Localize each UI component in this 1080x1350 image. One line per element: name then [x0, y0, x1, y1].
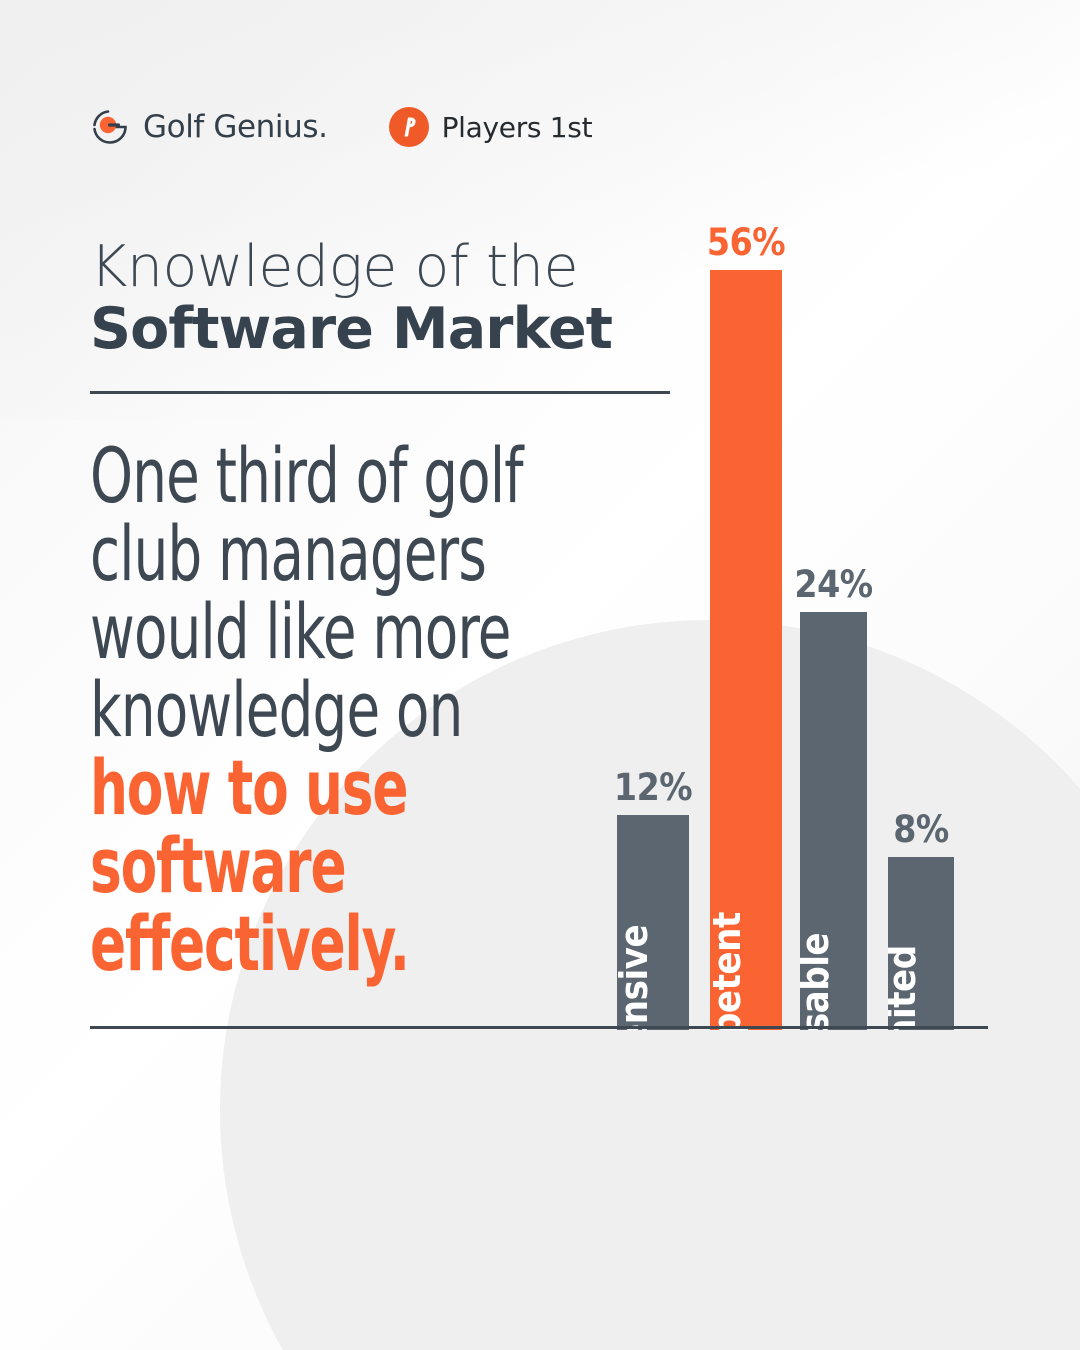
bar-category-label: Limited	[888, 945, 921, 1030]
body-line: One third of golf	[90, 437, 570, 515]
bar-group-passable: Passable 24%	[800, 612, 867, 1030]
golf-genius-logo: Golf Genius.	[88, 105, 328, 149]
bar-category-label: Passable	[800, 933, 834, 1030]
headline-line-light: Knowledge of the	[90, 238, 680, 296]
bar-value-label: 12%	[614, 766, 692, 809]
players-1st-mark-icon	[388, 106, 430, 148]
bar-extensive: Extensive	[617, 815, 689, 1030]
logo-bar: Golf Genius. Players 1st	[88, 98, 592, 156]
bar-limited: Limited	[888, 857, 954, 1030]
chart-baseline-axis	[90, 1026, 988, 1029]
players-1st-logo: Players 1st	[388, 106, 593, 148]
bar-competent: Competent	[710, 270, 782, 1030]
headline-line-bold: Software Market	[90, 296, 680, 363]
bar-value-label: 56%	[707, 221, 785, 264]
bar-group-extensive: Extensive 12%	[617, 815, 689, 1030]
bar-category-label: Extensive	[617, 925, 653, 1030]
players-1st-wordmark: Players 1st	[442, 111, 593, 144]
body-line-accent: how to use	[90, 749, 558, 827]
infographic-canvas: Golf Genius. Players 1st Knowledge of th…	[0, 0, 1080, 1350]
golf-genius-wordmark: Golf Genius.	[143, 109, 328, 145]
bar-value-label: 8%	[893, 808, 949, 851]
body-line-accent: effectively.	[90, 905, 558, 983]
body-line: would like more	[90, 593, 570, 671]
bar-category-label: Competent	[710, 912, 746, 1030]
headline-divider	[90, 391, 670, 394]
body-line-accent: software	[90, 827, 558, 905]
golf-genius-mark-icon	[88, 105, 132, 149]
bar-group-competent: Competent 56%	[710, 270, 782, 1030]
body-line: club managers	[90, 515, 570, 593]
bar-chart: Extensive 12% Competent 56% Passable 24%…	[600, 210, 1000, 1030]
headline-block: Knowledge of the Software Market	[90, 238, 680, 394]
bar-value-label: 24%	[794, 563, 872, 606]
bar-group-limited: Limited 8%	[888, 857, 954, 1030]
bar-passable: Passable	[800, 612, 867, 1030]
body-line: knowledge on	[90, 671, 570, 749]
